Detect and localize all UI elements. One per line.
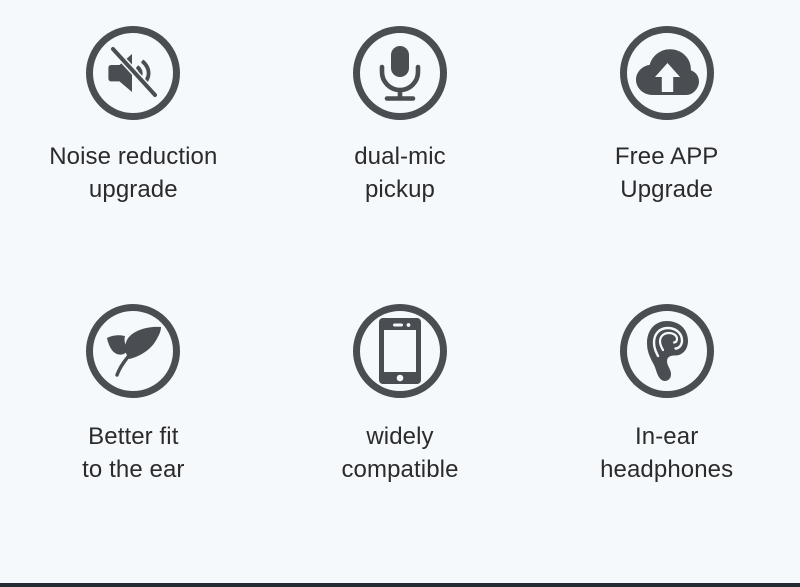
feature-item-noise-reduction: Noise reduction upgrade <box>0 12 267 282</box>
mute-speaker-icon-badge <box>86 26 180 120</box>
ear-icon <box>644 320 690 382</box>
cloud-upload-icon-badge <box>620 26 714 120</box>
feature-grid: Noise reduction upgrade dual-mic pickup <box>0 0 800 583</box>
feature-label-widely-compatible: widely compatible <box>341 420 458 486</box>
smartphone-icon <box>378 317 422 385</box>
feature-item-free-app: Free APP Upgrade <box>533 12 800 282</box>
microphone-icon <box>372 43 428 103</box>
mute-speaker-icon <box>102 42 164 104</box>
smartphone-icon-badge <box>353 304 447 398</box>
feature-item-better-fit: Better fit to the ear <box>0 282 267 552</box>
feature-label-noise-reduction: Noise reduction upgrade <box>49 140 217 206</box>
feature-label-in-ear: In-ear headphones <box>600 420 733 486</box>
feature-item-widely-compatible: widely compatible <box>267 282 534 552</box>
feature-label-better-fit: Better fit to the ear <box>82 420 184 486</box>
feature-label-free-app: Free APP Upgrade <box>615 140 719 206</box>
leaf-icon <box>103 323 163 379</box>
feature-label-dual-mic: dual-mic pickup <box>354 140 446 206</box>
microphone-icon-badge <box>353 26 447 120</box>
ear-icon-badge <box>620 304 714 398</box>
bottom-edge-strip <box>0 583 800 587</box>
leaf-icon-badge <box>86 304 180 398</box>
feature-item-dual-mic: dual-mic pickup <box>267 12 534 282</box>
cloud-upload-icon <box>635 47 699 99</box>
feature-item-in-ear: In-ear headphones <box>533 282 800 552</box>
